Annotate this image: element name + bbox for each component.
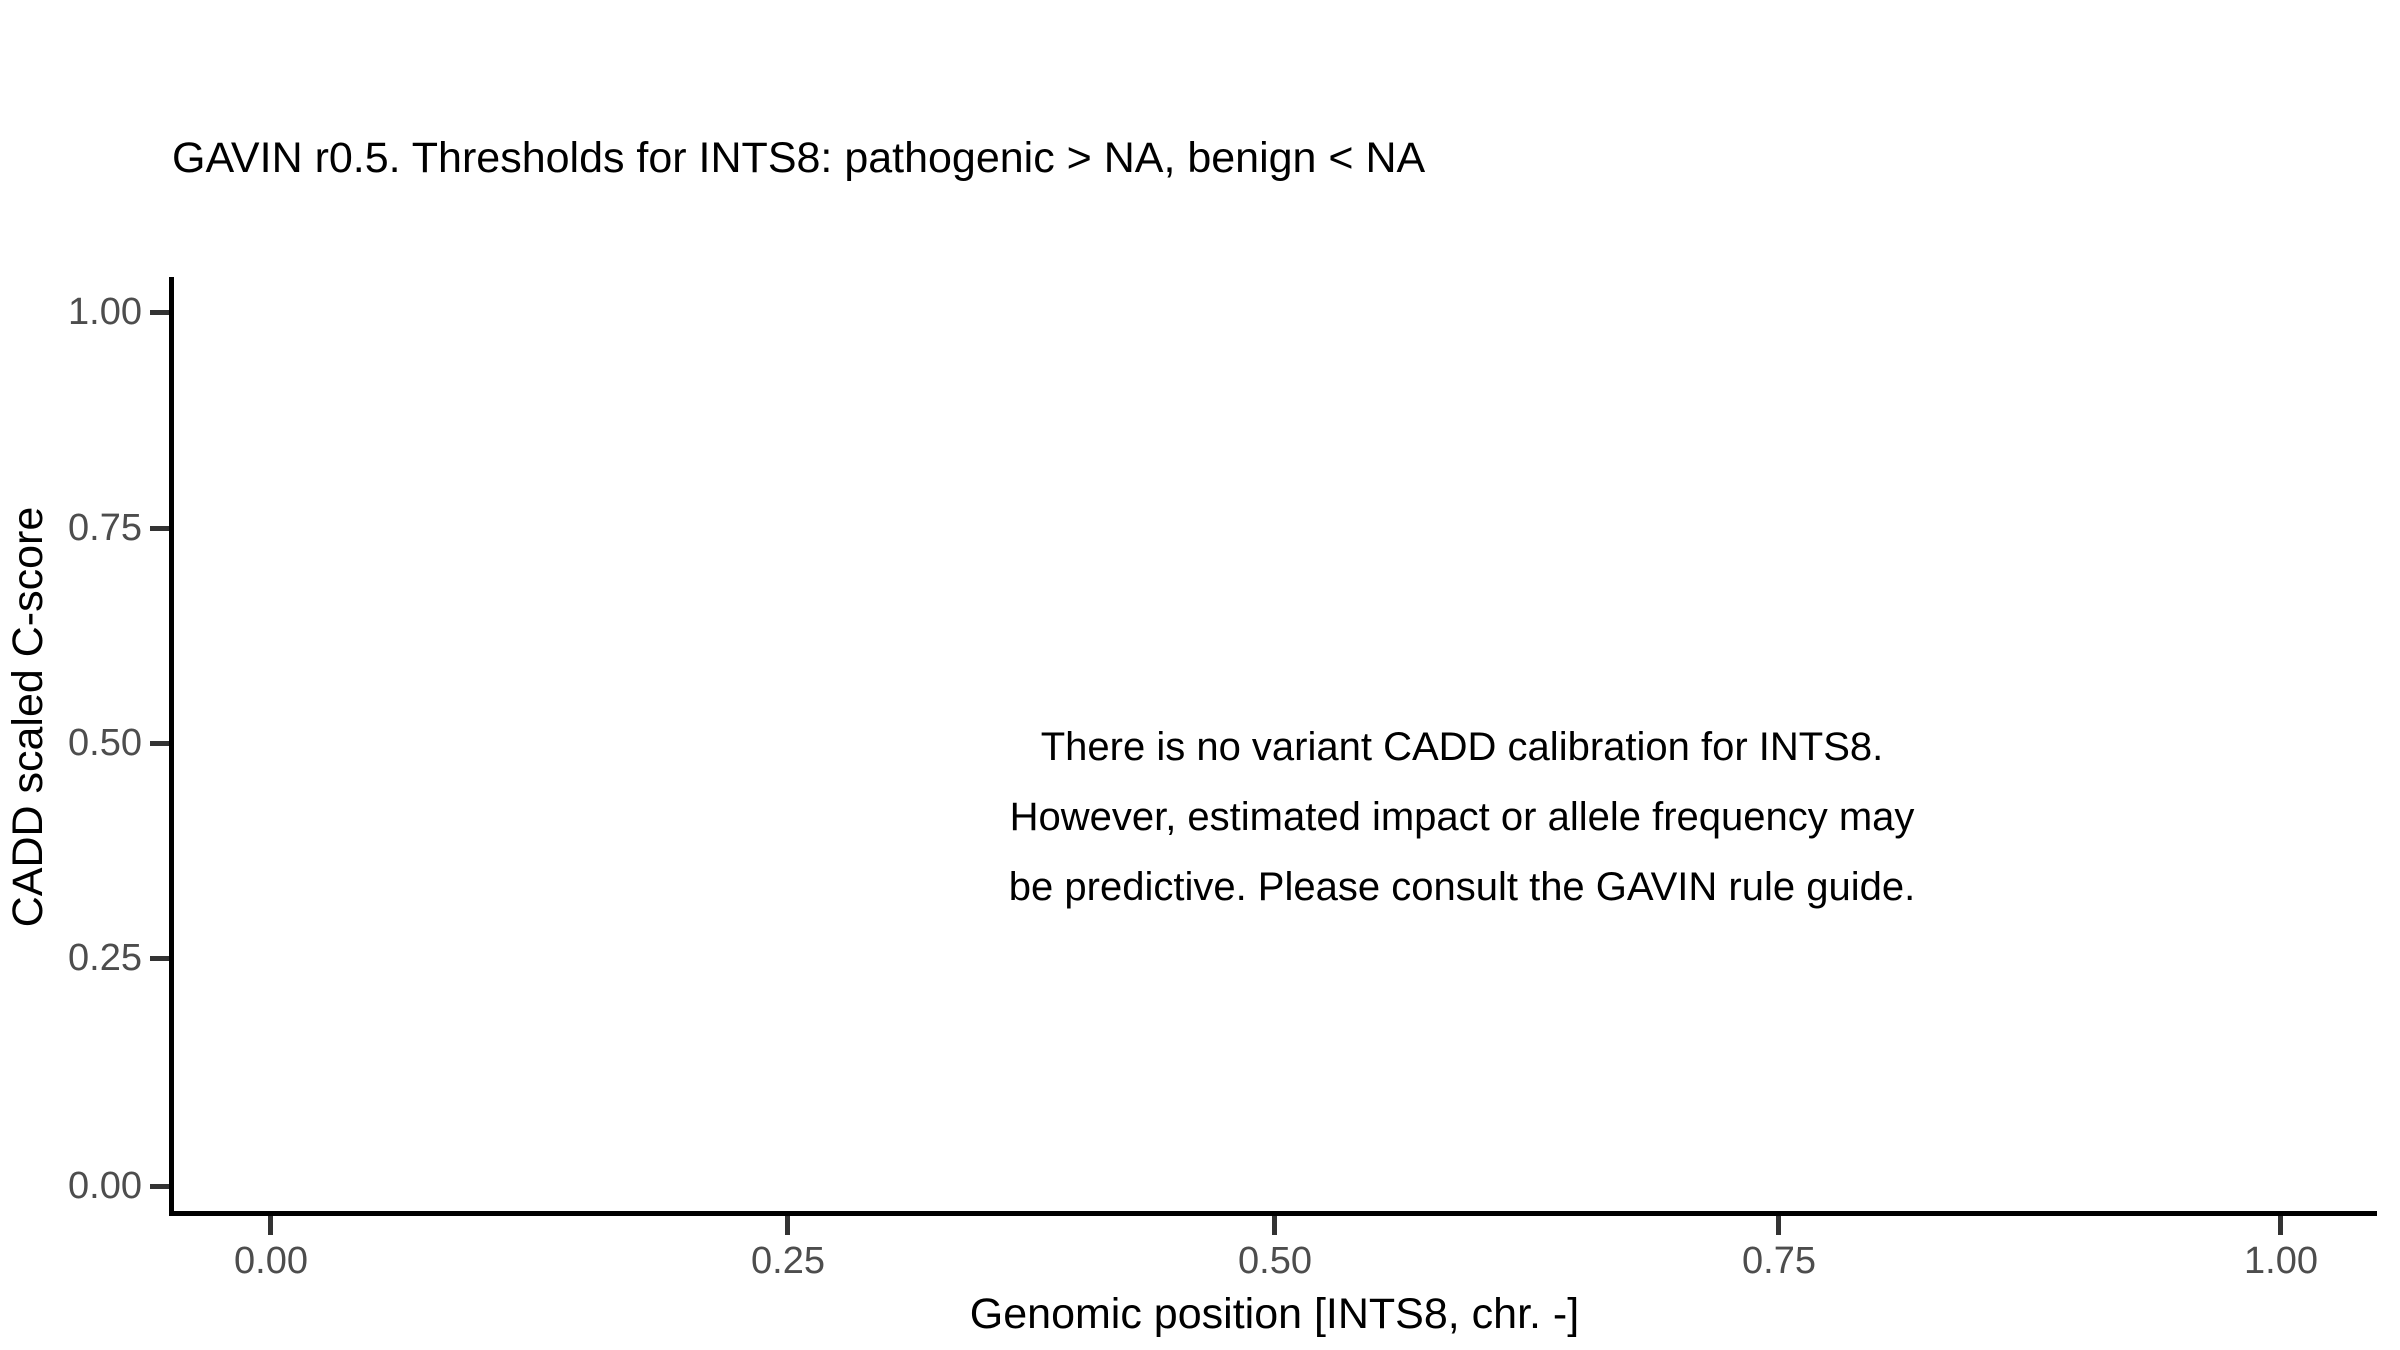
title-line-1: GAVIN r0.5. Thresholds for INTS8: pathog… (172, 128, 2172, 188)
annotation-line-3: be predictive. Please consult the GAVIN … (602, 852, 2322, 922)
no-calibration-message: There is no variant CADD calibration for… (602, 712, 2322, 922)
annotation-line-1: There is no variant CADD calibration for… (602, 712, 2322, 782)
y-tick-mark-0.50 (150, 741, 169, 746)
y-tick-mark-0.25 (150, 956, 169, 961)
y-axis-title: CADD scaled C-score (0, 249, 56, 1185)
y-axis-line (169, 277, 174, 1216)
annotation-line-2: However, estimated impact or allele freq… (602, 782, 2322, 852)
x-tick-label-0.00: 0.00 (171, 1240, 371, 1283)
x-axis-title: Genomic position [INTS8, chr. -] (172, 1288, 2377, 1340)
x-tick-mark-0.25 (785, 1216, 790, 1235)
x-tick-label-0.25: 0.25 (688, 1240, 888, 1283)
gavin-cadd-calibration-plot: GAVIN r0.5. Thresholds for INTS8: pathog… (0, 0, 2400, 1350)
x-tick-mark-0.75 (1776, 1216, 1781, 1235)
y-tick-mark-0.00 (150, 1184, 169, 1189)
x-tick-mark-1.00 (2278, 1216, 2283, 1235)
x-tick-label-0.50: 0.50 (1175, 1240, 1375, 1283)
y-tick-mark-1.00 (150, 310, 169, 315)
x-tick-label-0.75: 0.75 (1679, 1240, 1879, 1283)
y-tick-mark-0.75 (150, 526, 169, 531)
x-tick-mark-0.50 (1272, 1216, 1277, 1235)
plot-panel: There is no variant CADD calibration for… (172, 277, 2377, 1213)
x-tick-label-1.00: 1.00 (2181, 1240, 2381, 1283)
x-tick-mark-0.00 (268, 1216, 273, 1235)
